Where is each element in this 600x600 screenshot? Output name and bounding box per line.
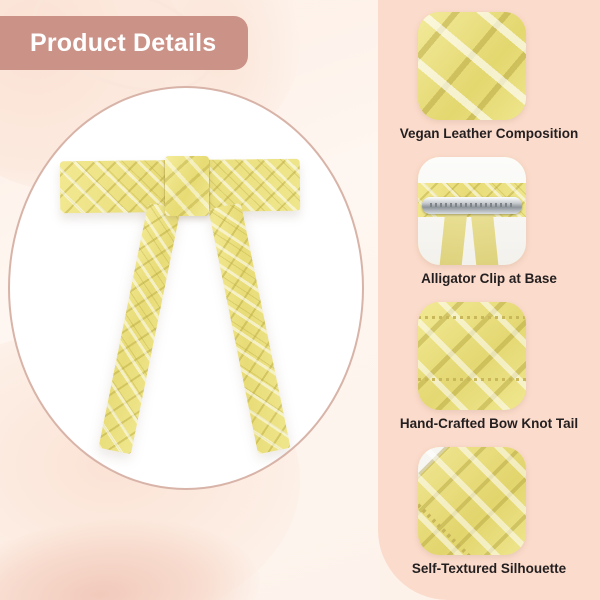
feature-label-1: Vegan Leather Composition [378, 126, 600, 141]
weave-overlay [418, 447, 526, 555]
title-banner: Product Details [0, 16, 248, 70]
clip-strap-right [471, 212, 499, 265]
feature-thumbnail-1[interactable] [418, 12, 526, 120]
diagonal-woven-tail-icon [418, 447, 526, 555]
bow-tail-left [98, 203, 180, 455]
clip-strap-left [439, 212, 467, 265]
feature-label-4: Self-Textured Silhouette [378, 561, 600, 576]
stitch-line-bottom [418, 378, 526, 381]
alligator-clip-metal [422, 197, 522, 214]
feature-label-3: Hand-Crafted Bow Knot Tail [378, 416, 600, 431]
feature-thumbnail-4[interactable] [418, 447, 526, 555]
hero-product-image [10, 88, 362, 488]
feature-thumbnail-3[interactable] [418, 302, 526, 410]
macro-weave-texture-icon [418, 12, 526, 120]
stitched-knot-weave-icon [418, 302, 526, 410]
hero-product-circle [8, 86, 364, 490]
feature-thumbnail-2[interactable] [418, 157, 526, 265]
product-details-infographic: Product Details Vegan Leather Compositio… [0, 0, 600, 600]
bow-center-knot [165, 156, 209, 216]
bow-tail-right [208, 203, 290, 455]
silver-alligator-clip-icon [418, 157, 526, 265]
page-title: Product Details [0, 29, 216, 58]
feature-label-2: Alligator Clip at Base [378, 271, 600, 286]
stitch-line-top [418, 316, 526, 319]
